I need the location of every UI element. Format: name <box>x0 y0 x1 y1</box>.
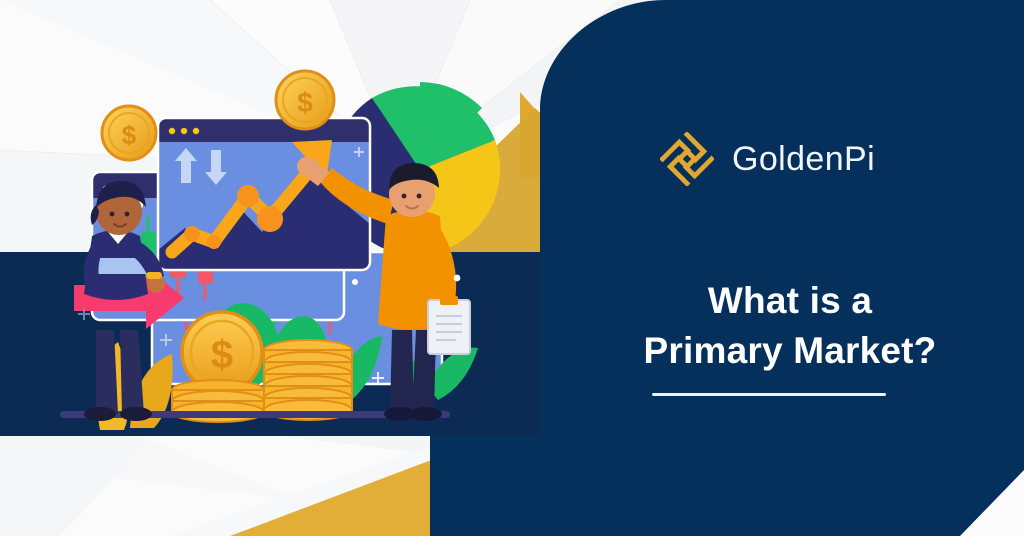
brand-name: GoldenPi <box>732 142 875 176</box>
page-title-line-2: Primary Market? <box>600 326 980 376</box>
poster-canvas: $ $ <box>0 0 1024 536</box>
goldenpi-weave-logo-icon <box>660 132 714 186</box>
floating-coin-small: $ <box>102 106 156 160</box>
title-underline-rule <box>652 393 886 396</box>
page-title: What is a Primary Market? <box>600 276 980 375</box>
floating-coin-large: $ <box>276 71 334 129</box>
svg-text:$: $ <box>122 120 137 150</box>
clipboard <box>428 296 470 354</box>
page-title-line-1: What is a <box>708 280 872 321</box>
svg-text:$: $ <box>297 87 313 118</box>
brand-lockup[interactable]: GoldenPi <box>660 132 875 186</box>
window-dots-chart <box>169 128 199 134</box>
svg-text:$: $ <box>211 333 233 377</box>
illustration-layer: $ $ <box>0 0 1024 536</box>
